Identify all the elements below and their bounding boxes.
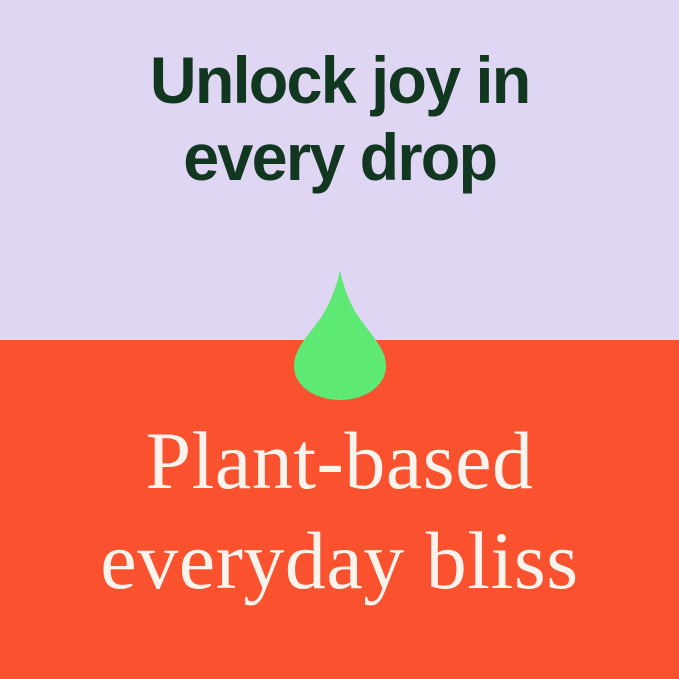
water-droplet-shape [292,268,388,402]
water-droplet-icon [292,268,388,402]
promo-poster: Unlock joy in every drop Plant-based eve… [0,0,679,679]
